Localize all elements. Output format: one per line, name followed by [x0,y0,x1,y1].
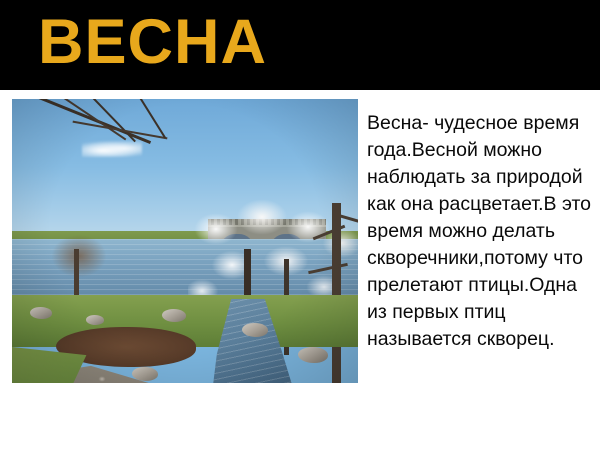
body-paragraph: Весна- чудесное время года.Весной можно … [367,110,593,353]
rock [86,315,104,325]
rock [242,323,268,337]
page-title: ВЕСНА [38,9,267,75]
rock [132,367,158,381]
rock [298,347,328,363]
cloud-icon [82,141,142,157]
title-banner: ВЕСНА [0,0,600,90]
rock [30,307,52,319]
body-text-block: Весна- чудесное время года.Весной можно … [367,110,593,353]
spring-park-photo [12,99,358,383]
small-tree-canopy [52,235,106,277]
rock [162,309,186,322]
